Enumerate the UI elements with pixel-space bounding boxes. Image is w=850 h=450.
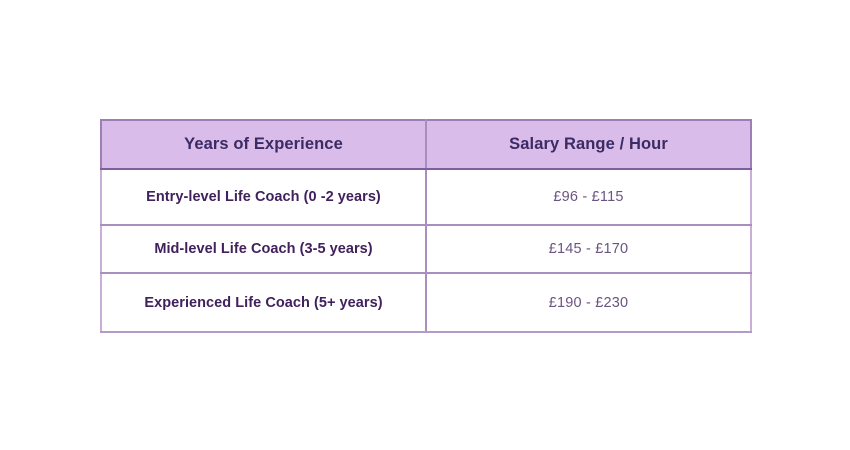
cell-salary-range: £190 - £230 — [426, 273, 751, 332]
cell-experience: Mid-level Life Coach (3-5 years) — [101, 225, 426, 273]
cell-experience: Experienced Life Coach (5+ years) — [101, 273, 426, 332]
column-header-salary-range: Salary Range / Hour — [426, 120, 751, 169]
table-row: Mid-level Life Coach (3-5 years) £145 - … — [101, 225, 751, 273]
table-header: Years of Experience Salary Range / Hour — [101, 120, 751, 169]
cell-salary-range: £145 - £170 — [426, 225, 751, 273]
column-header-years-of-experience: Years of Experience — [101, 120, 426, 169]
table-body: Entry-level Life Coach (0 -2 years) £96 … — [101, 169, 751, 332]
salary-table-container: Years of Experience Salary Range / Hour … — [100, 119, 750, 333]
cell-salary-range: £96 - £115 — [426, 169, 751, 225]
life-coach-salary-table: Years of Experience Salary Range / Hour … — [100, 119, 752, 333]
table-header-row: Years of Experience Salary Range / Hour — [101, 120, 751, 169]
table-row: Entry-level Life Coach (0 -2 years) £96 … — [101, 169, 751, 225]
cell-experience: Entry-level Life Coach (0 -2 years) — [101, 169, 426, 225]
table-row: Experienced Life Coach (5+ years) £190 -… — [101, 273, 751, 332]
